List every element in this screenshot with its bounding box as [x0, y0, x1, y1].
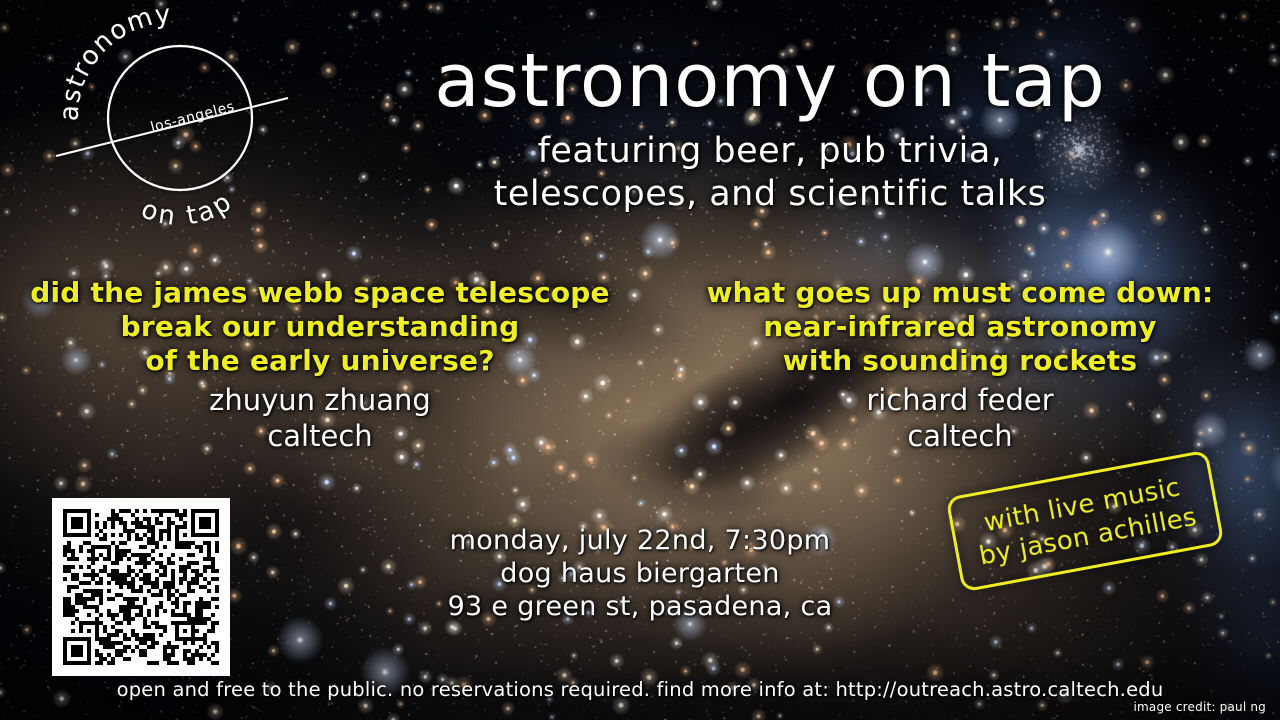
talk-card-left: did the james webb space telescope break…: [0, 276, 640, 454]
event-venue: dog haus biergarten: [340, 557, 940, 590]
talk-title-left: did the james webb space telescope break…: [14, 276, 626, 378]
qr-code[interactable]: [52, 498, 230, 676]
talks-section: did the james webb space telescope break…: [0, 276, 1280, 454]
live-music-badge-box: with live music by jason achilles: [945, 450, 1224, 593]
event-datetime: monday, july 22nd, 7:30pm: [340, 524, 940, 557]
qr-code-canvas[interactable]: [63, 509, 219, 665]
logo-arc-bottom-text: on tap: [137, 186, 239, 232]
talk-left-affiliation: caltech: [14, 418, 626, 454]
event-poster: astronomy on tap los-angeles astronomy o…: [0, 0, 1280, 720]
talk-card-right: what goes up must come down: near-infrar…: [640, 276, 1280, 454]
logo-svg: astronomy on tap los-angeles: [38, 8, 298, 230]
talk-right-title-line-3: with sounding rockets: [654, 344, 1266, 378]
talk-left-title-line-2: break our understanding: [14, 310, 626, 344]
event-details: monday, july 22nd, 7:30pm dog haus bierg…: [340, 524, 940, 623]
astronomy-on-tap-logo: astronomy on tap los-angeles: [38, 8, 298, 230]
live-music-badge: with live music by jason achilles: [945, 450, 1224, 593]
poster-header: astronomy on tap featuring beer, pub tri…: [300, 42, 1240, 216]
talk-right-title-line-1: what goes up must come down:: [654, 276, 1266, 310]
talk-left-speaker: zhuyun zhuang: [14, 382, 626, 418]
talk-left-title-line-3: of the early universe?: [14, 344, 626, 378]
poster-title: astronomy on tap: [300, 42, 1240, 120]
poster-subtitle: featuring beer, pub trivia, telescopes, …: [300, 130, 1240, 216]
logo-center-line-text: los-angeles: [149, 99, 236, 136]
event-address: 93 e green st, pasadena, ca: [340, 590, 940, 623]
logo-arc-top-text: astronomy: [55, 0, 174, 122]
poster-footer: open and free to the public. no reservat…: [0, 678, 1280, 701]
image-credit: image credit: paul ng: [1133, 700, 1266, 714]
talk-right-speaker: richard feder: [654, 382, 1266, 418]
talk-right-title-line-2: near-infrared astronomy: [654, 310, 1266, 344]
subtitle-line-2: telescopes, and scientific talks: [300, 173, 1240, 216]
talk-title-right: what goes up must come down: near-infrar…: [654, 276, 1266, 378]
footer-text: open and free to the public. no reservat…: [0, 678, 1280, 701]
talk-left-title-line-1: did the james webb space telescope: [14, 276, 626, 310]
talk-right-affiliation: caltech: [654, 418, 1266, 454]
subtitle-line-1: featuring beer, pub trivia,: [300, 130, 1240, 173]
